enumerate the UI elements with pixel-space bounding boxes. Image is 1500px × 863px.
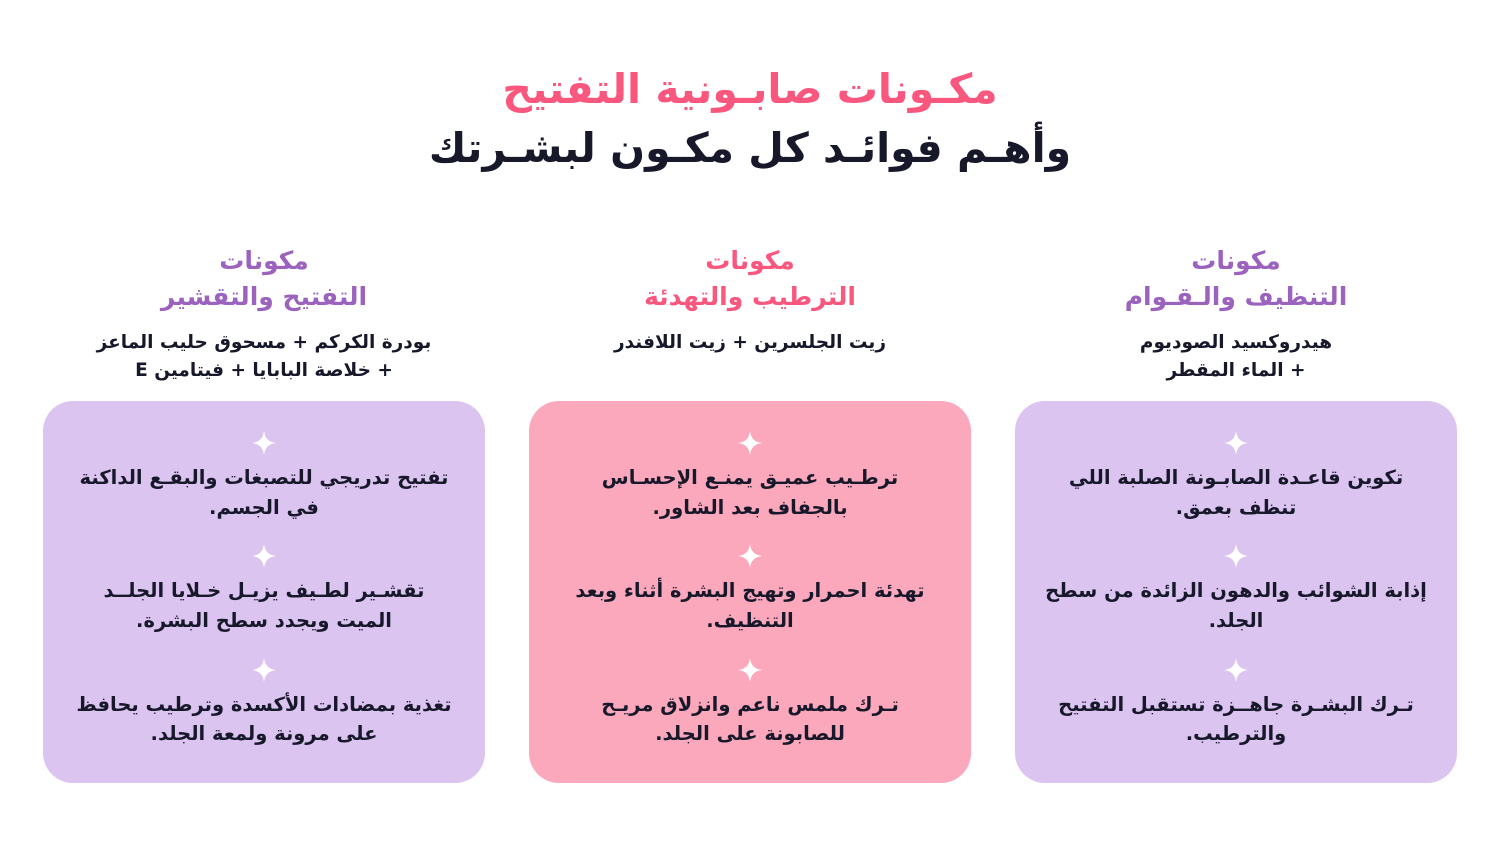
column-subtitle-line1: بودرة الكركم + مسحوق حليب الماعز (97, 332, 432, 353)
benefit-item: تـرك ملمس ناعم وانزلاق مريـح للصابونة عل… (553, 690, 947, 749)
title-line-main: وأهـم فوائـد كل مكـون لبشـرتك (0, 121, 1500, 176)
benefits-card-lightening: تفتيح تدريجي للتصبغات والبقـع الداكنة في… (43, 401, 485, 783)
column-cleansing-structure: مكونات التنظيف والـقـوام هيدروكسيد الصود… (1015, 243, 1457, 783)
benefit-item: تغذية بمضادات الأكسدة وترطيب يحافظ على م… (67, 690, 461, 749)
infographic-page: مكـونات صابـونية التفتيح وأهـم فوائـد كل… (0, 0, 1500, 863)
columns-container: مكونات التفتيح والتقشير بودرة الكركم + م… (0, 243, 1500, 823)
sparkle-icon (1224, 658, 1248, 682)
benefit-item: تقشـير لطـيف يزيـل خـلايا الجلــد الميت … (67, 576, 461, 635)
column-heading-lightening: مكونات التفتيح والتقشير (43, 243, 485, 317)
benefit-item: تفتيح تدريجي للتصبغات والبقـع الداكنة في… (67, 463, 461, 522)
sparkle-icon (738, 658, 762, 682)
column-subtitle-line2: + الماء المقطر (1166, 360, 1305, 381)
sparkle-icon (738, 431, 762, 455)
column-heading-hydration: مكونات الترطيب والتهدئة (529, 243, 971, 317)
sparkle-icon (252, 431, 276, 455)
benefit-item: تهدئة احمرار وتهيج البشرة أثناء وبعد الت… (553, 576, 947, 635)
sparkle-icon (738, 544, 762, 568)
page-title: مكـونات صابـونية التفتيح وأهـم فوائـد كل… (0, 62, 1500, 177)
benefits-card-hydration: ترطـيب عميـق يمنـع الإحسـاس بالجفاف بعد … (529, 401, 971, 783)
column-subtitle-cleansing: هيدروكسيد الصوديوم + الماء المقطر (1015, 329, 1457, 387)
column-heading-line2: التفتيح والتقشير (43, 279, 485, 315)
column-heading-line1: مكونات (43, 243, 485, 279)
column-lightening-exfoliation: مكونات التفتيح والتقشير بودرة الكركم + م… (43, 243, 485, 783)
title-line-accent: مكـونات صابـونية التفتيح (0, 62, 1500, 117)
benefit-item: ترطـيب عميـق يمنـع الإحسـاس بالجفاف بعد … (553, 463, 947, 522)
column-heading-line1: مكونات (529, 243, 971, 279)
benefit-item: إذابة الشوائب والدهون الزائدة من سطح الج… (1039, 576, 1433, 635)
column-hydration-soothing: مكونات الترطيب والتهدئة زيت الجلسرين + ز… (529, 243, 971, 783)
column-heading-cleansing: مكونات التنظيف والـقـوام (1015, 243, 1457, 317)
sparkle-icon (252, 658, 276, 682)
column-subtitle-line2: + خلاصة البابايا + فيتامين E (135, 360, 393, 381)
column-subtitle-line1: زيت الجلسرين + زيت اللافندر (614, 332, 886, 353)
column-subtitle-hydration: زيت الجلسرين + زيت اللافندر (529, 329, 971, 387)
column-heading-line1: مكونات (1015, 243, 1457, 279)
sparkle-icon (1224, 544, 1248, 568)
column-heading-line2: الترطيب والتهدئة (529, 279, 971, 315)
sparkle-icon (1224, 431, 1248, 455)
benefit-item: تكوين قاعـدة الصابـونة الصلبة اللي تنظف … (1039, 463, 1433, 522)
sparkle-icon (252, 544, 276, 568)
column-heading-line2: التنظيف والـقـوام (1015, 279, 1457, 315)
column-subtitle-lightening: بودرة الكركم + مسحوق حليب الماعز + خلاصة… (43, 329, 485, 387)
benefits-card-cleansing: تكوين قاعـدة الصابـونة الصلبة اللي تنظف … (1015, 401, 1457, 783)
benefit-item: تـرك البشـرة جاهــزة تستقبل التفتيح والت… (1039, 690, 1433, 749)
column-subtitle-line1: هيدروكسيد الصوديوم (1140, 332, 1332, 353)
